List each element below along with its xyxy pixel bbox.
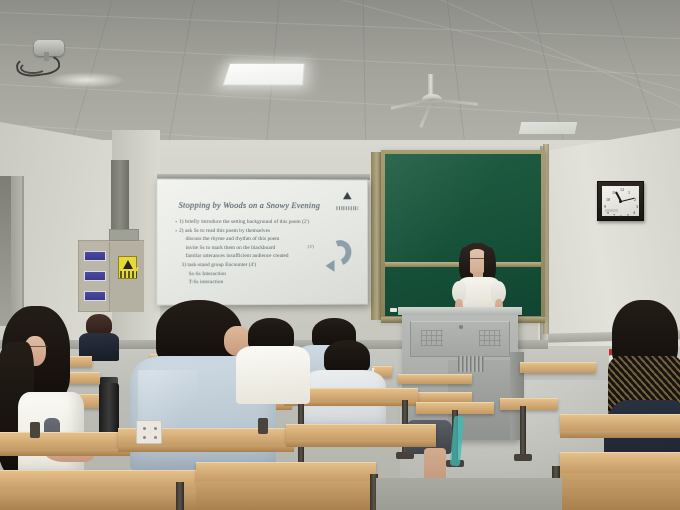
desk-surface bbox=[520, 362, 596, 373]
ceiling-projector-mount bbox=[14, 40, 76, 70]
chalk-piece bbox=[390, 308, 397, 312]
desk-bracket bbox=[258, 418, 268, 434]
desk-surface bbox=[398, 374, 472, 384]
slide-subline: T-Ss interaction bbox=[176, 278, 358, 287]
podium-vent-grille bbox=[458, 356, 484, 372]
desk-side-power-outlet[interactable] bbox=[136, 420, 162, 444]
desk-edge bbox=[560, 473, 680, 510]
clock-face: 12 1 2 3 4 5 6 7 8 9 10 11 bbox=[602, 186, 639, 216]
notice-board-header-box bbox=[109, 229, 139, 241]
slide-bullet: 1) briefly introduce the setting backgro… bbox=[176, 218, 358, 227]
desk-leg bbox=[176, 482, 184, 510]
crest-wordmark bbox=[336, 206, 358, 210]
ceiling bbox=[0, 0, 680, 152]
classroom-photo: 12 1 2 3 4 5 6 7 8 9 10 11 Stopping by W bbox=[0, 0, 680, 510]
clock-numeral: 5 bbox=[627, 213, 629, 218]
projected-slide: Stopping by Woods on a Snowy Evening ⛰ 1… bbox=[157, 179, 367, 304]
projector-cable-loop bbox=[20, 62, 46, 74]
recessed-ceiling-light bbox=[222, 63, 305, 85]
clock-center-pin bbox=[619, 200, 622, 203]
clock-numeral: 10 bbox=[606, 197, 610, 202]
student-hair bbox=[324, 340, 370, 374]
blue-plaque bbox=[84, 271, 106, 281]
desk-surface bbox=[196, 462, 376, 482]
desk-edge bbox=[196, 481, 376, 510]
clock-numeral: 1 bbox=[628, 190, 630, 195]
electrical-hazard-warning-sign bbox=[118, 256, 137, 279]
slide-title: Stopping by Woods on a Snowy Evening bbox=[179, 201, 320, 210]
clock-minute-hand bbox=[620, 198, 634, 203]
desk-leg bbox=[520, 406, 526, 458]
clock-numeral: 12 bbox=[620, 187, 624, 192]
desk-surface bbox=[560, 452, 680, 474]
clock-brand-label bbox=[605, 209, 618, 212]
wall-clock: 12 1 2 3 4 5 6 7 8 9 10 11 bbox=[597, 181, 644, 221]
podium-top-surface bbox=[398, 307, 522, 315]
blue-plaque bbox=[84, 291, 106, 301]
desk-leg-foot bbox=[514, 454, 532, 461]
crest-glyph: ⛰ bbox=[336, 190, 358, 204]
desk-surface bbox=[0, 432, 130, 450]
desk-surface bbox=[286, 424, 436, 441]
arrow-head bbox=[326, 260, 335, 272]
university-crest-logo: ⛰ bbox=[336, 190, 358, 210]
desk-edge bbox=[118, 445, 294, 452]
podium-front-panel bbox=[410, 321, 510, 357]
clock-numeral: 6 bbox=[620, 214, 622, 219]
slide-annotation-mark: (3') bbox=[308, 244, 314, 249]
fan-drop-rod bbox=[428, 74, 434, 96]
warning-triangle-icon bbox=[123, 260, 133, 269]
podium-panel-label-right bbox=[479, 330, 501, 346]
clock-numeral: 7 bbox=[613, 213, 615, 218]
desk-surface bbox=[500, 398, 558, 410]
projection-screen: Stopping by Woods on a Snowy Evening ⛰ 1… bbox=[156, 178, 368, 305]
ceiling-smudge bbox=[46, 72, 126, 88]
clock-numeral: 4 bbox=[633, 210, 635, 215]
desk-edge bbox=[0, 449, 130, 456]
notice-board-left-panel bbox=[81, 243, 107, 311]
desk-surface bbox=[560, 414, 680, 432]
doorway-interior bbox=[0, 176, 11, 326]
clock-numeral: 3 bbox=[636, 204, 638, 209]
slide-bullet: 2) ask Ss to read this poem by themselve… bbox=[176, 226, 358, 235]
blue-plaque bbox=[84, 251, 106, 261]
ceiling-fan bbox=[398, 74, 468, 114]
floor-foreground bbox=[376, 478, 562, 510]
student-right-white bbox=[236, 318, 310, 404]
podium-cable-hole bbox=[459, 325, 463, 329]
desk-edge bbox=[286, 440, 436, 447]
doorway bbox=[0, 176, 24, 326]
student-top bbox=[236, 346, 310, 404]
desk-bracket bbox=[30, 422, 40, 438]
desk-edge bbox=[560, 431, 680, 438]
warning-sign-text bbox=[120, 271, 137, 278]
recessed-ceiling-light-far bbox=[519, 122, 578, 134]
curved-return-arrow-icon bbox=[324, 238, 358, 272]
presenter-hair-left bbox=[459, 247, 470, 281]
podium-panel-label-left bbox=[421, 330, 443, 346]
